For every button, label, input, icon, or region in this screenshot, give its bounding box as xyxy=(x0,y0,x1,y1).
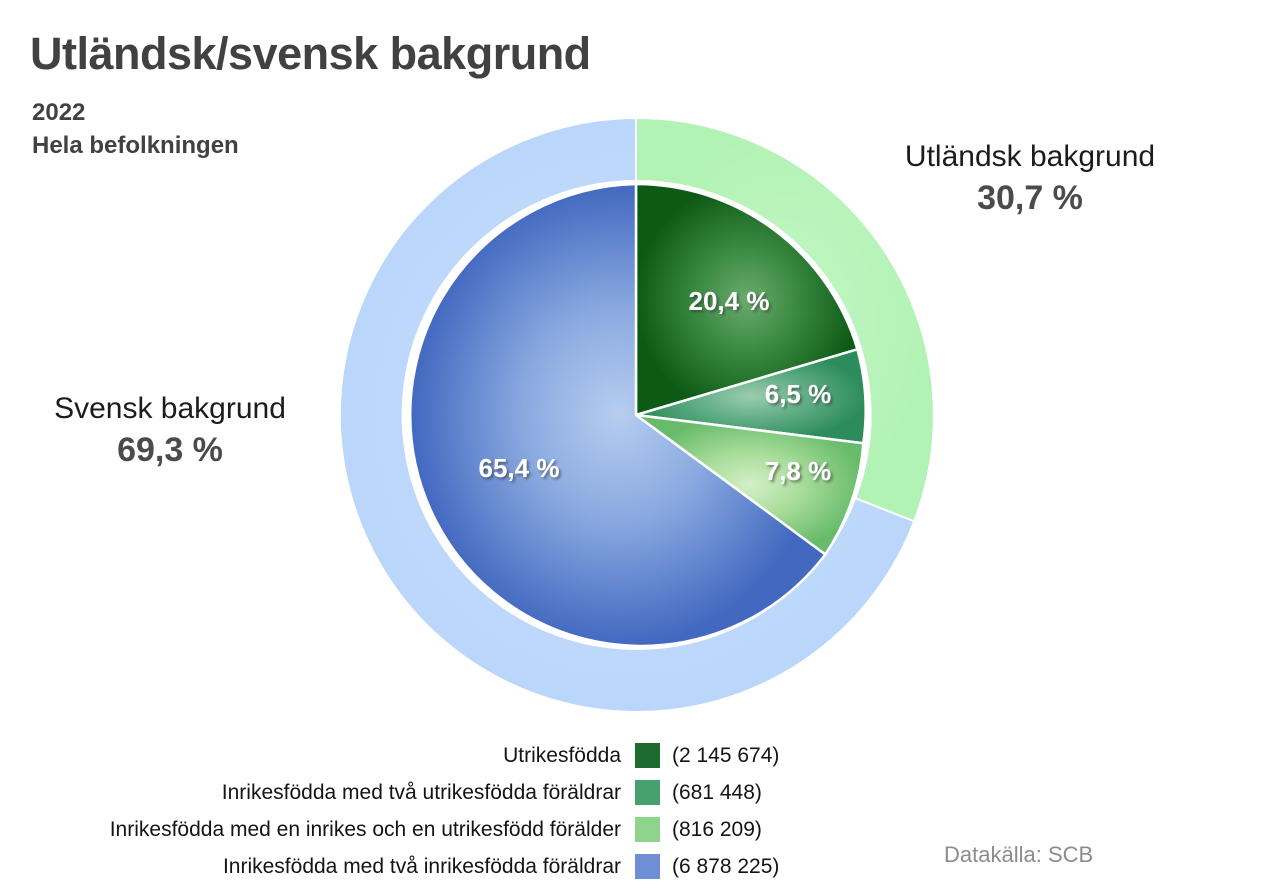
legend-color-swatch xyxy=(635,780,660,805)
pie-chart: 20,4 % 6,5 % 7,8 % 65,4 % xyxy=(339,118,933,712)
legend-item-label: Inrikesfödda med två inrikesfödda föräld… xyxy=(223,855,635,879)
pie-slice-label-utrikesfodda: 20,4 % xyxy=(689,286,770,316)
legend-item-value: (6 878 225) xyxy=(660,855,790,879)
legend-color-swatch xyxy=(635,743,660,768)
pie-chart-svg: 20,4 % 6,5 % 7,8 % 65,4 % xyxy=(339,118,933,712)
chart-legend: Utrikesfödda (2 145 674) Inrikesfödda me… xyxy=(0,737,790,885)
legend-item-label: Inrikesfödda med två utrikesfödda föräld… xyxy=(222,781,635,805)
legend-item: Utrikesfödda (2 145 674) xyxy=(0,737,790,774)
legend-item-label: Inrikesfödda med en inrikes och en utrik… xyxy=(110,818,635,842)
legend-item-value: (2 145 674) xyxy=(660,744,790,768)
pie-slice-label-tva-utrikesfodda-foraldrar: 6,5 % xyxy=(765,379,832,409)
pie-slice-label-en-inrikes-en-utrikesfodd: 7,8 % xyxy=(765,456,832,486)
legend-item: Inrikesfödda med en inrikes och en utrik… xyxy=(0,811,790,848)
legend-item: Inrikesfödda med två inrikesfödda föräld… xyxy=(0,848,790,885)
annotation-utlandsk-bakgrund-value: 30,7 % xyxy=(880,173,1180,224)
pie-slice-label-tva-inrikesfodda-foraldrar: 65,4 % xyxy=(479,453,560,483)
legend-item-value: (681 448) xyxy=(660,781,790,805)
page-title: Utländsk/svensk bakgrund xyxy=(30,28,591,80)
legend-item: Inrikesfödda med två utrikesfödda föräld… xyxy=(0,774,790,811)
legend-item-value: (816 209) xyxy=(660,818,790,842)
legend-item-label: Utrikesfödda xyxy=(503,744,635,768)
annotation-utlandsk-bakgrund-label: Utländsk bakgrund xyxy=(880,140,1180,173)
subtitle-population-group: Hela befolkningen xyxy=(32,132,239,160)
subtitle-year: 2022 xyxy=(32,99,85,127)
annotation-svensk-bakgrund-value: 69,3 % xyxy=(20,425,320,476)
annotation-svensk-bakgrund: Svensk bakgrund 69,3 % xyxy=(20,392,320,476)
legend-color-swatch xyxy=(635,854,660,879)
annotation-utlandsk-bakgrund: Utländsk bakgrund 30,7 % xyxy=(880,140,1180,224)
data-source-note: Datakälla: SCB xyxy=(944,842,1093,868)
legend-color-swatch xyxy=(635,817,660,842)
annotation-svensk-bakgrund-label: Svensk bakgrund xyxy=(20,392,320,425)
